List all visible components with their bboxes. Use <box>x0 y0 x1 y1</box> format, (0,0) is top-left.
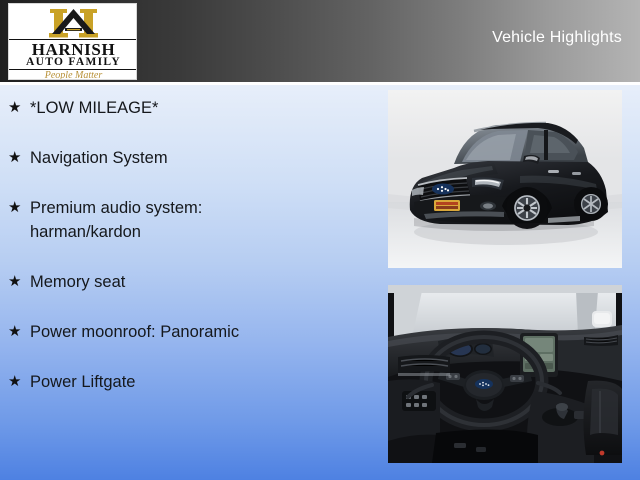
logo-tagline: People Matter <box>9 70 137 80</box>
star-bullet-icon: ★ <box>8 96 30 120</box>
vehicle-interior-photo[interactable] <box>388 285 622 463</box>
star-bullet-icon: ★ <box>8 270 30 294</box>
highlight-label: Power Liftgate <box>30 370 380 394</box>
star-bullet-icon: ★ <box>8 370 30 394</box>
harnish-monogram-icon <box>9 7 137 40</box>
star-bullet-icon: ★ <box>8 196 30 220</box>
logo-subtitle: AUTO FAMILY <box>9 56 137 70</box>
list-item: ★ Navigation System <box>8 146 380 170</box>
vehicle-highlights-list: ★ *LOW MILEAGE* ★ Navigation System ★ Pr… <box>8 96 380 420</box>
page-title: Vehicle Highlights <box>492 29 622 47</box>
list-item: ★ Memory seat <box>8 270 380 294</box>
highlight-label: Premium audio system: harman/kardon <box>30 196 380 244</box>
header-divider <box>0 82 640 85</box>
star-bullet-icon: ★ <box>8 146 30 170</box>
slide-root: Vehicle Highlights HARNISH AUTO FAMILY P… <box>0 0 640 480</box>
star-bullet-icon: ★ <box>8 320 30 344</box>
highlight-label: Memory seat <box>30 270 380 294</box>
highlight-label: *LOW MILEAGE* <box>30 96 380 120</box>
dealer-logo: HARNISH AUTO FAMILY People Matter <box>8 3 137 80</box>
highlight-label: Navigation System <box>30 146 380 170</box>
list-item: ★ Premium audio system: harman/kardon <box>8 196 380 244</box>
list-item: ★ Power Liftgate <box>8 370 380 394</box>
list-item: ★ Power moonroof: Panoramic <box>8 320 380 344</box>
list-item: ★ *LOW MILEAGE* <box>8 96 380 120</box>
highlight-label: Power moonroof: Panoramic <box>30 320 380 344</box>
vehicle-exterior-photo[interactable] <box>388 90 622 268</box>
